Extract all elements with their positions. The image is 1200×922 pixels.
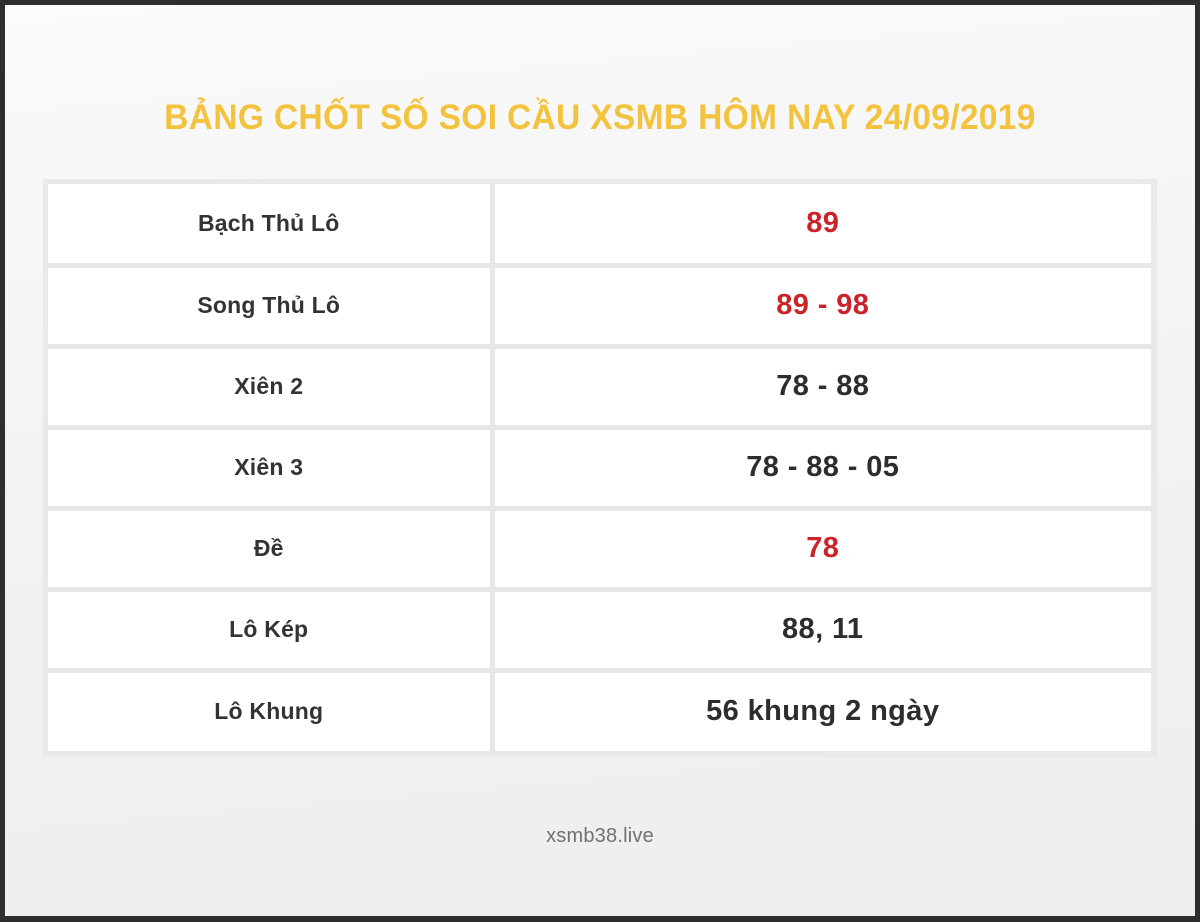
row-value: 89 (492, 184, 1151, 265)
site-watermark: xsmb38.live (5, 825, 1195, 848)
table-row: Lô Khung56 khung 2 ngày (48, 670, 1151, 751)
table-row: Xiên 378 - 88 - 05 (48, 427, 1151, 508)
table-row: Bạch Thủ Lô89 (48, 184, 1151, 265)
row-label: Xiên 3 (48, 427, 492, 508)
row-label: Xiên 2 (48, 346, 492, 427)
page-canvas: BẢNG CHỐT SỐ SOI CẦU XSMB HÔM NAY 24/09/… (5, 5, 1195, 916)
table-row: Lô Kép88, 11 (48, 589, 1151, 670)
row-value: 88, 11 (492, 589, 1151, 670)
row-label: Lô Khung (48, 670, 492, 751)
row-label: Song Thủ Lô (48, 265, 492, 346)
prediction-table: Bạch Thủ Lô89Song Thủ Lô89 - 98Xiên 278 … (43, 179, 1157, 757)
table-row: Song Thủ Lô89 - 98 (48, 265, 1151, 346)
page-title: BẢNG CHỐT SỐ SOI CẦU XSMB HÔM NAY 24/09/… (5, 97, 1195, 139)
prediction-table-body: Bạch Thủ Lô89Song Thủ Lô89 - 98Xiên 278 … (48, 184, 1151, 751)
image-frame: BẢNG CHỐT SỐ SOI CẦU XSMB HÔM NAY 24/09/… (0, 0, 1200, 922)
table-row: Đề78 (48, 508, 1151, 589)
row-value: 78 (492, 508, 1151, 589)
table-row: Xiên 278 - 88 (48, 346, 1151, 427)
row-value: 56 khung 2 ngày (492, 670, 1151, 751)
prediction-table-grid: Bạch Thủ Lô89Song Thủ Lô89 - 98Xiên 278 … (48, 184, 1151, 751)
page-title-text: BẢNG CHỐT SỐ SOI CẦU XSMB HÔM NAY 24/09/… (164, 97, 1036, 139)
row-label: Bạch Thủ Lô (48, 184, 492, 265)
row-label: Đề (48, 508, 492, 589)
row-value: 89 - 98 (492, 265, 1151, 346)
row-value: 78 - 88 - 05 (492, 427, 1151, 508)
row-label: Lô Kép (48, 589, 492, 670)
row-value: 78 - 88 (492, 346, 1151, 427)
